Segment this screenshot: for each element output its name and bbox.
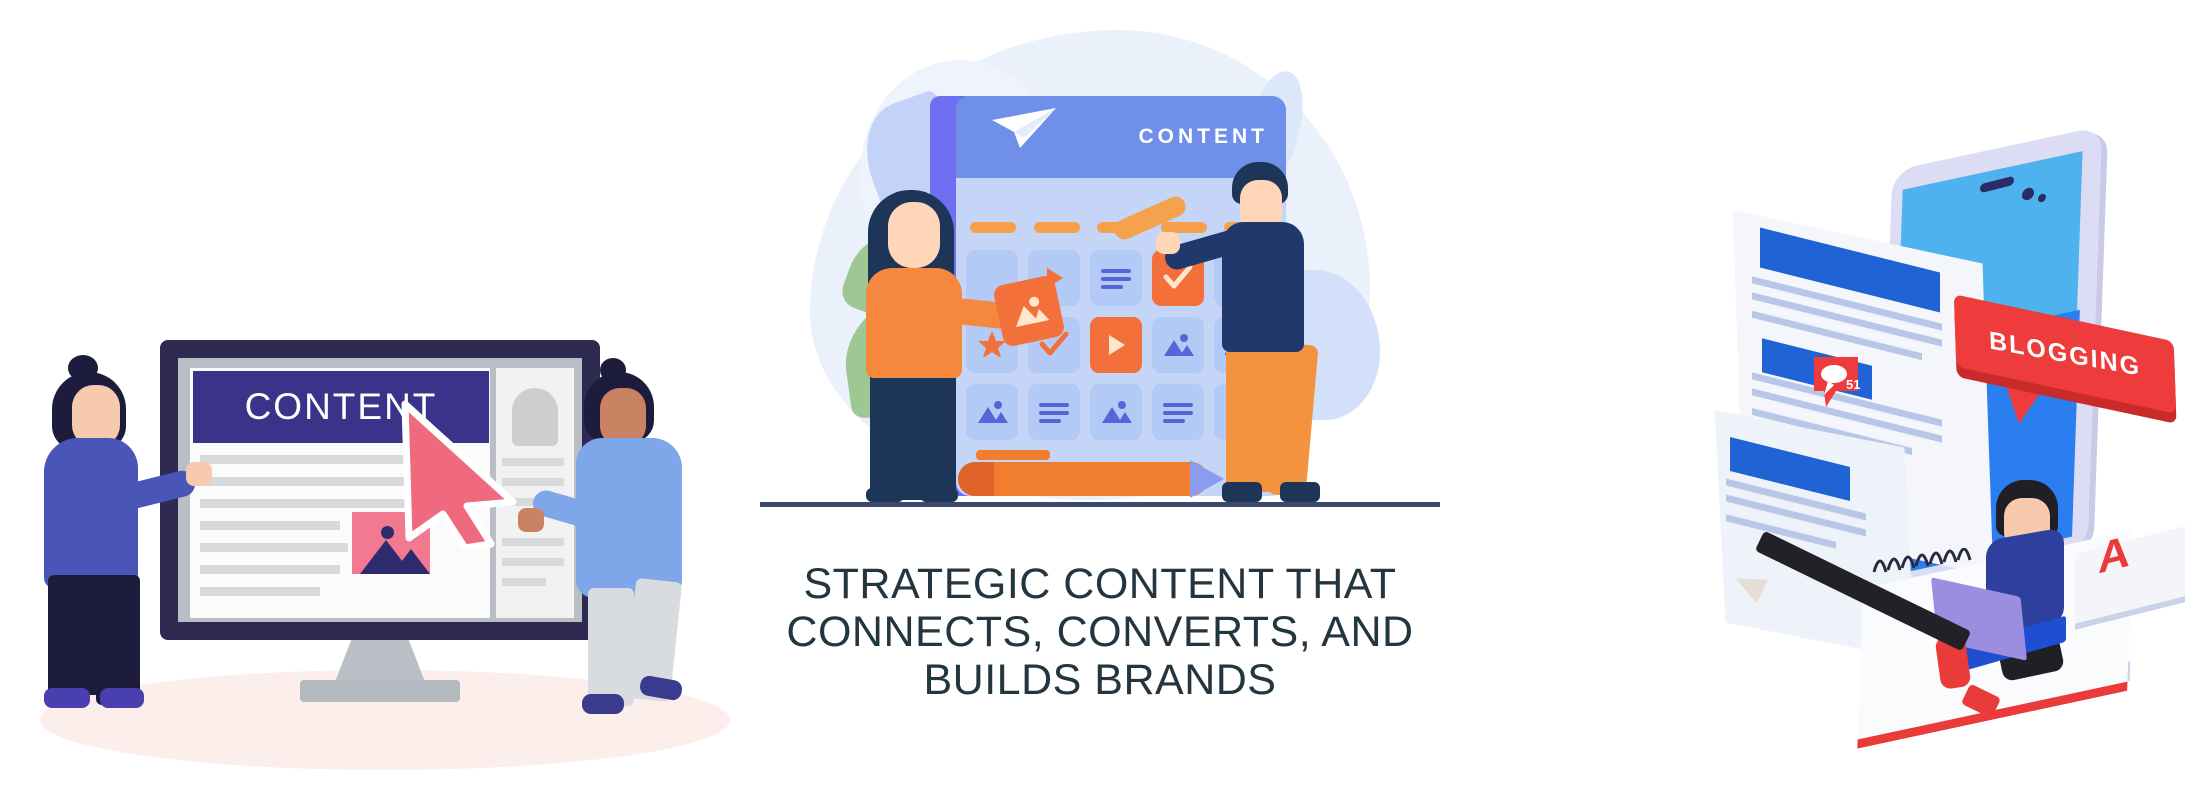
board-header-label: CONTENT xyxy=(1139,125,1269,149)
pencil-ring xyxy=(976,450,1050,460)
blogging-banner-label: BLOGGING xyxy=(1989,326,2142,382)
shoe xyxy=(1222,482,1262,502)
shoe xyxy=(866,488,904,502)
dash xyxy=(1034,222,1080,233)
right-illustration: 51 BLOGGING A xyxy=(1700,0,2200,800)
pencil-tip xyxy=(1190,460,1224,498)
side-text-line xyxy=(502,558,564,566)
hand xyxy=(1156,232,1180,254)
notebook-spiral xyxy=(1870,548,1980,578)
text-line xyxy=(200,587,320,596)
page-title-line-1: STRATEGIC CONTENT THAT xyxy=(760,560,1440,608)
comment-bubble-icon: 51 xyxy=(1810,355,1862,411)
tile-image-icon[interactable] xyxy=(1152,317,1204,373)
illustration-banner: CONTENT xyxy=(0,0,2200,800)
text-line xyxy=(200,521,340,530)
page-title-line-3: BUILDS BRANDS xyxy=(760,656,1440,704)
monitor-base xyxy=(300,680,460,702)
shoe xyxy=(582,694,624,714)
shoe xyxy=(1280,482,1320,502)
monitor-neck xyxy=(335,640,425,682)
tile-play-icon[interactable] xyxy=(1090,317,1142,373)
legs xyxy=(870,370,956,500)
tile-image-icon[interactable] xyxy=(966,384,1018,440)
text-line xyxy=(200,543,348,552)
large-pencil xyxy=(958,462,1208,496)
hand xyxy=(518,508,544,532)
torso xyxy=(44,438,138,588)
face xyxy=(888,202,940,268)
tile-lines-icon[interactable] xyxy=(1090,250,1142,306)
side-text-line xyxy=(502,578,546,586)
paper-plane-icon xyxy=(990,104,1060,152)
svg-text:51: 51 xyxy=(1846,377,1860,392)
tile-image-icon-held xyxy=(992,274,1066,348)
shoe xyxy=(44,688,90,708)
shoe xyxy=(920,488,958,502)
tile-lines-icon[interactable] xyxy=(1028,384,1080,440)
tile-image-icon[interactable] xyxy=(1090,384,1142,440)
tile-lines-icon[interactable] xyxy=(1152,384,1204,440)
page-title: STRATEGIC CONTENT THAT CONNECTS, CONVERT… xyxy=(760,560,1440,704)
text-line xyxy=(200,565,340,574)
left-illustration: CONTENT xyxy=(0,0,760,800)
shoe xyxy=(100,688,144,708)
dash xyxy=(970,222,1016,233)
pencil-eraser xyxy=(958,462,994,496)
hand xyxy=(186,462,212,486)
cursor-arrow-icon xyxy=(395,398,525,548)
ground-line xyxy=(760,502,1440,507)
page-title-line-2: CONNECTS, CONVERTS, AND xyxy=(760,608,1440,656)
